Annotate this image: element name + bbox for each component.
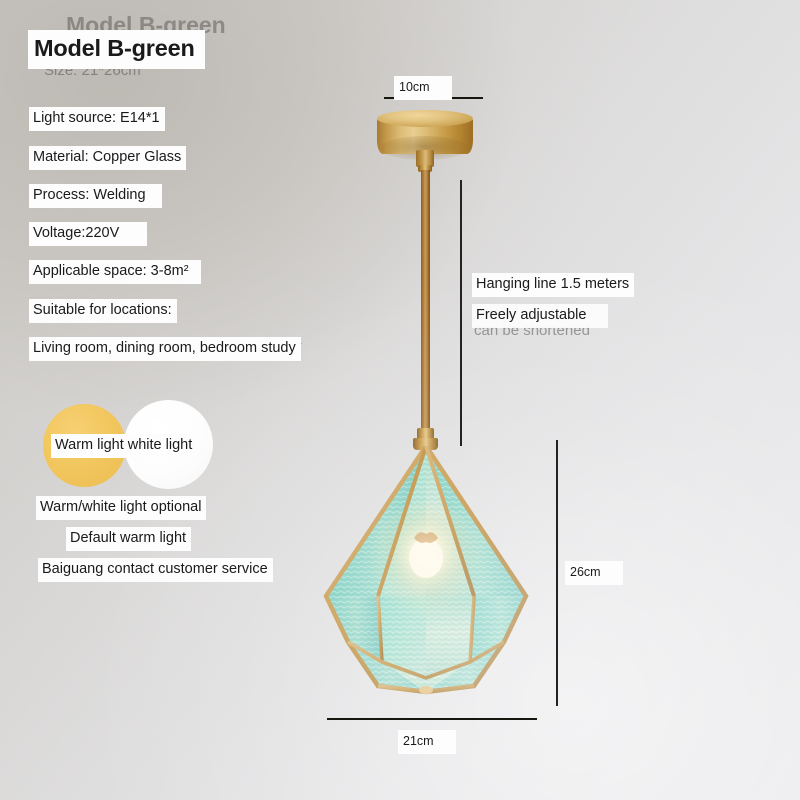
spec-material: Material: Copper Glass: [29, 146, 186, 170]
hanging-line-length: Hanging line 1.5 meters: [472, 273, 634, 297]
suspension-rod: [421, 170, 430, 432]
dimension-label-width: 21cm: [398, 730, 456, 754]
spec-light-source: Light source: E14*1: [29, 107, 165, 131]
hanging-adjustable-note: Freely adjustable: [472, 304, 608, 328]
canopy-top-face: [377, 110, 473, 127]
dimension-line-hanging: [460, 180, 462, 446]
spec-suitable-locations-heading: Suitable for locations:: [29, 299, 177, 323]
spec-suitable-locations-value: Living room, dining room, bedroom study: [29, 337, 301, 361]
spec-voltage: Voltage:220V: [29, 222, 147, 246]
page-title: Model B-green: [28, 30, 205, 69]
light-service-note: Baiguang contact customer service: [38, 558, 273, 582]
glass-shade: [318, 446, 534, 708]
light-optional-note: Warm/white light optional: [36, 496, 206, 520]
dimension-line-width: [327, 718, 537, 720]
spec-applicable-space: Applicable space: 3-8m²: [29, 260, 201, 284]
spec-process: Process: Welding: [29, 184, 162, 208]
light-swatch-caption: Warm light white light: [51, 434, 197, 458]
light-default-note: Default warm light: [66, 527, 191, 551]
dimension-line-height: [556, 440, 558, 706]
dimension-label-height: 26cm: [565, 561, 623, 585]
product-infographic: Model B-green Size: 21*26cm Light source…: [0, 0, 800, 800]
dimension-label-top-width: 10cm: [394, 76, 452, 100]
